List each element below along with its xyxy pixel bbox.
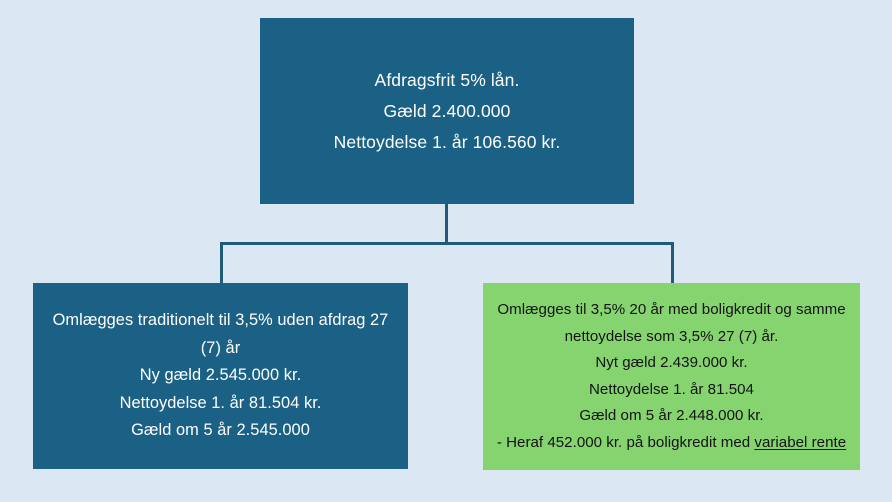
left-line-4: Gæld om 5 år 2.545.000 [131, 417, 310, 445]
left-line-1: Omlægges traditionelt til 3,5% uden afdr… [47, 307, 394, 362]
connector-root-stem [445, 203, 448, 244]
right-line-1: Omlægges til 3,5% 20 år med boligkredit … [493, 297, 850, 350]
right-line-2: Nyt gæld 2.439.000 kr. [595, 350, 747, 377]
connector-drop-right [671, 242, 674, 284]
right-footnote: - Heraf 452.000 kr. på boligkredit med v… [497, 430, 846, 457]
footnote-text: - Heraf 452.000 kr. på boligkredit med [497, 434, 755, 451]
right-line-3: Nettoydelse 1. år 81.504 [589, 377, 754, 404]
connector-horizontal-bar [220, 242, 674, 245]
connector-drop-left [220, 242, 223, 284]
left-line-3: Nettoydelse 1. år 81.504 kr. [120, 390, 322, 418]
node-option-traditional: Omlægges traditionelt til 3,5% uden afdr… [33, 283, 408, 469]
node-root-loan: Afdragsfrit 5% lån. Gæld 2.400.000 Netto… [260, 18, 634, 204]
flowchart-diagram: Afdragsfrit 5% lån. Gæld 2.400.000 Netto… [0, 0, 892, 502]
variabel-rente-link[interactable]: variabel rente [754, 434, 846, 451]
right-line-4: Gæld om 5 år 2.448.000 kr. [579, 403, 763, 430]
root-line-1: Afdragsfrit 5% lån. [375, 65, 520, 96]
left-line-2: Ny gæld 2.545.000 kr. [140, 362, 301, 390]
root-line-2: Gæld 2.400.000 [384, 96, 511, 127]
node-option-boligkredit: Omlægges til 3,5% 20 år med boligkredit … [483, 283, 860, 470]
root-line-3: Nettoydelse 1. år 106.560 kr. [334, 127, 561, 158]
